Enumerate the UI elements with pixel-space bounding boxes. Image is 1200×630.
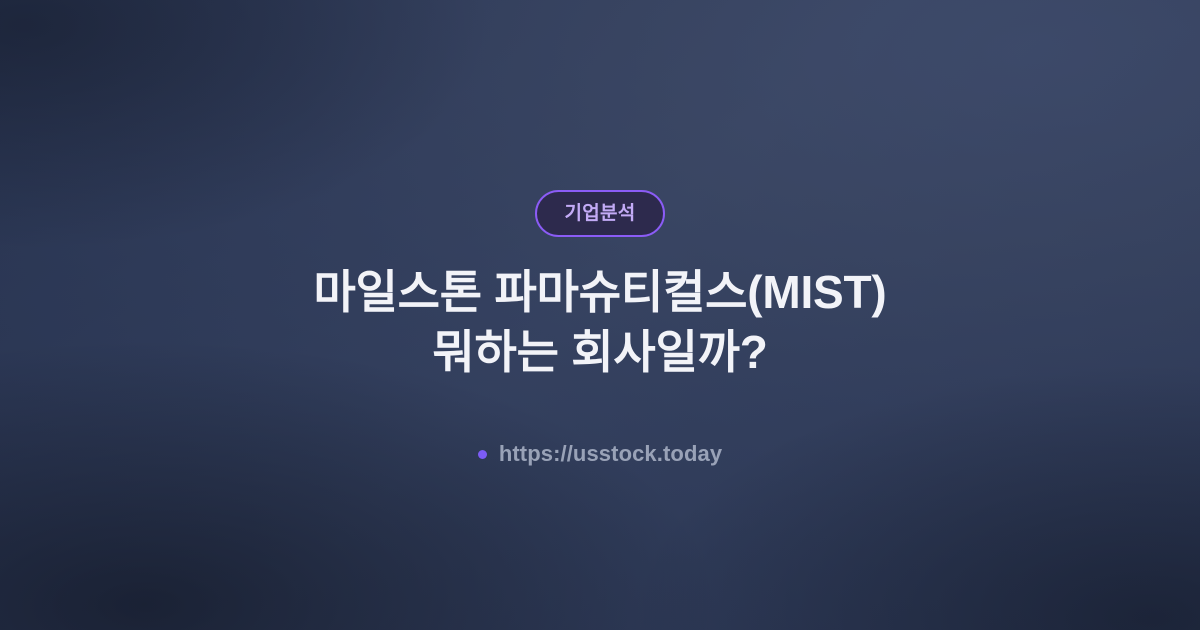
share-card: 기업분석 마일스톤 파마슈티컬스(MIST) 뭐하는 회사일까? https:/… [0, 0, 1200, 630]
category-badge: 기업분석 [535, 190, 664, 237]
page-title-line-1: 마일스톤 파마슈티컬스(MIST) [313, 263, 886, 323]
page-title: 마일스톤 파마슈티컬스(MIST) 뭐하는 회사일까? [313, 263, 886, 383]
bullet-dot-icon [478, 450, 487, 459]
site-url-label: https://usstock.today [499, 443, 722, 465]
page-title-line-2: 뭐하는 회사일까? [313, 323, 886, 383]
site-url-row: https://usstock.today [478, 443, 722, 465]
card-content: 기업분석 마일스톤 파마슈티컬스(MIST) 뭐하는 회사일까? https:/… [0, 0, 1200, 630]
category-badge-label: 기업분석 [564, 204, 635, 223]
